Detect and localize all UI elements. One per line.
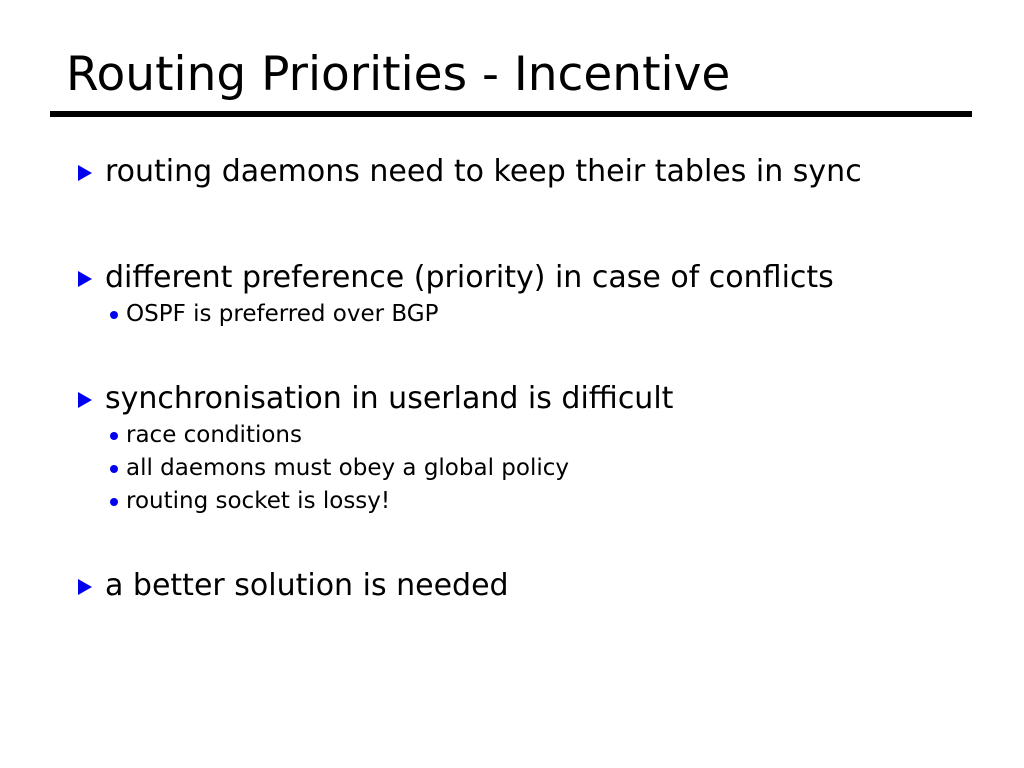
bullet-label: a better solution is needed [105,568,509,603]
triangle-right-bullet-icon [78,271,92,287]
bullet-item-level2: all daemons must obey a global policy [0,452,1024,485]
page-title: Routing Priorities - Incentive [50,46,972,104]
bullet-label: OSPF is preferred over BGP [126,301,438,327]
bullet-label: different preference (priority) in case … [105,260,834,295]
title-underline-rule [50,111,972,117]
round-bullet-icon [110,465,118,473]
bullet-label: race conditions [126,422,302,448]
bullet-item-level1: synchronisation in userland is difficult [0,379,1024,419]
bullet-label: synchronisation in userland is difficult [105,381,673,416]
bullet-label: all daemons must obey a global policy [126,455,569,481]
presentation-slide: Routing Priorities - Incentive routing d… [0,0,1024,768]
bullet-group: synchronisation in userland is difficult… [0,379,1024,518]
bullet-item-level2: race conditions [0,419,1024,452]
bullet-item-level2: routing socket is lossy! [0,485,1024,518]
bullet-label: routing socket is lossy! [126,488,390,514]
bullet-item-level2: OSPF is preferred over BGP [0,298,1024,331]
bullet-item-level1: a better solution is needed [0,566,1024,606]
bullet-group: routing daemons need to keep their table… [0,152,1024,192]
round-bullet-icon [110,498,118,506]
group-spacer [0,192,1024,258]
bullet-list: routing daemons need to keep their table… [0,152,1024,606]
group-spacer [0,331,1024,379]
title-block: Routing Priorities - Incentive [50,46,972,117]
round-bullet-icon [110,432,118,440]
bullet-label: routing daemons need to keep their table… [105,154,862,189]
bullet-item-level1: routing daemons need to keep their table… [0,152,1024,192]
bullet-group: different preference (priority) in case … [0,258,1024,331]
triangle-right-bullet-icon [78,392,92,408]
bullet-group: a better solution is needed [0,566,1024,606]
group-spacer [0,518,1024,566]
triangle-right-bullet-icon [78,165,92,181]
bullet-item-level1: different preference (priority) in case … [0,258,1024,298]
triangle-right-bullet-icon [78,579,92,595]
round-bullet-icon [110,311,118,319]
